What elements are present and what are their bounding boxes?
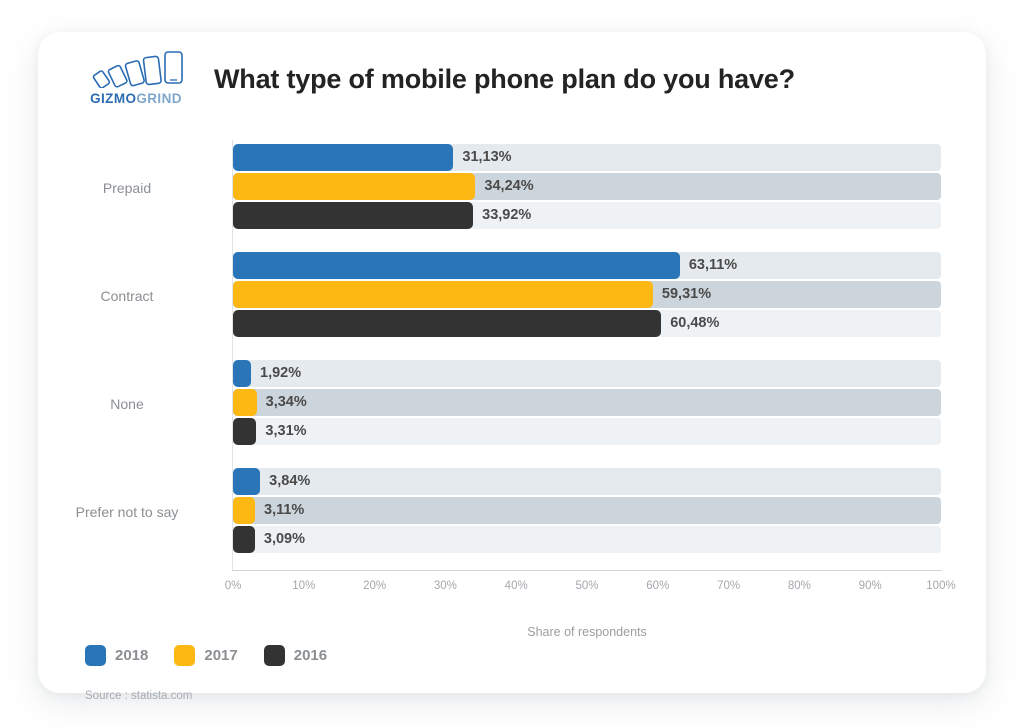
bar-2018[interactable] xyxy=(233,360,251,387)
bar-2016[interactable] xyxy=(233,310,661,337)
bar-track xyxy=(233,389,941,416)
source-note: Source : statista.com xyxy=(85,690,192,702)
bar-tracks: 63,11%59,31%60,48% xyxy=(233,252,941,340)
wordmark-primary: GIZMO xyxy=(90,91,136,106)
chart-plot-area: Prepaid31,13%34,24%33,92%Contract63,11%5… xyxy=(38,140,986,693)
bar-track xyxy=(233,526,941,553)
card-header: GIZMOGRIND What type of mobile phone pla… xyxy=(38,32,986,140)
bar-value-label: 60,48% xyxy=(670,310,719,337)
x-axis-ticks: 0%10%20%30%40%50%60%70%80%90%100% xyxy=(233,580,941,598)
bar-value-label: 3,34% xyxy=(266,389,307,416)
legend-label: 2017 xyxy=(204,647,237,664)
category-label: Prefer not to say xyxy=(38,504,216,520)
x-tick-label: 90% xyxy=(859,580,882,592)
x-tick-label: 70% xyxy=(717,580,740,592)
chart-legend: 201820172016 xyxy=(85,645,327,666)
bar-track xyxy=(233,418,941,445)
x-tick-label: 40% xyxy=(505,580,528,592)
bar-2018[interactable] xyxy=(233,144,453,171)
x-tick-label: 0% xyxy=(225,580,242,592)
x-tick-label: 20% xyxy=(363,580,386,592)
bar-group: Prefer not to say3,84%3,11%3,09% xyxy=(38,468,986,556)
x-tick-label: 30% xyxy=(434,580,457,592)
bar-2018[interactable] xyxy=(233,252,680,279)
bar-2018[interactable] xyxy=(233,468,260,495)
bar-track xyxy=(233,497,941,524)
legend-label: 2018 xyxy=(115,647,148,664)
legend-item-2018[interactable]: 2018 xyxy=(85,645,148,666)
bar-2017[interactable] xyxy=(233,173,475,200)
bar-value-label: 3,09% xyxy=(264,526,305,553)
bar-group: None1,92%3,34%3,31% xyxy=(38,360,986,448)
brand-logo: GIZMOGRIND xyxy=(76,50,196,106)
bar-value-label: 59,31% xyxy=(662,281,711,308)
bar-2017[interactable] xyxy=(233,389,257,416)
legend-item-2017[interactable]: 2017 xyxy=(174,645,237,666)
bar-group: Prepaid31,13%34,24%33,92% xyxy=(38,144,986,232)
x-tick-label: 10% xyxy=(292,580,315,592)
x-axis-title: Share of respondents xyxy=(233,625,941,639)
bar-2017[interactable] xyxy=(233,281,653,308)
gizmogrind-phones-logo xyxy=(87,50,185,88)
legend-swatch-icon xyxy=(85,645,106,666)
x-tick-label: 100% xyxy=(926,580,955,592)
bar-value-label: 31,13% xyxy=(462,144,511,171)
bar-value-label: 1,92% xyxy=(260,360,301,387)
bar-value-label: 34,24% xyxy=(484,173,533,200)
page-title: What type of mobile phone plan do you ha… xyxy=(214,64,795,95)
bar-2016[interactable] xyxy=(233,202,473,229)
bar-value-label: 3,11% xyxy=(264,497,304,524)
x-tick-label: 60% xyxy=(646,580,669,592)
chart-card: GIZMOGRIND What type of mobile phone pla… xyxy=(38,32,986,693)
bar-tracks: 1,92%3,34%3,31% xyxy=(233,360,941,448)
x-axis-line xyxy=(232,570,942,571)
bar-tracks: 3,84%3,11%3,09% xyxy=(233,468,941,556)
bar-value-label: 3,31% xyxy=(265,418,306,445)
category-label: Prepaid xyxy=(38,180,216,196)
bar-track xyxy=(233,468,941,495)
bar-value-label: 33,92% xyxy=(482,202,531,229)
bar-track xyxy=(233,360,941,387)
x-tick-label: 80% xyxy=(788,580,811,592)
bar-value-label: 3,84% xyxy=(269,468,310,495)
brand-wordmark: GIZMOGRIND xyxy=(76,91,196,106)
legend-swatch-icon xyxy=(174,645,195,666)
x-tick-label: 50% xyxy=(575,580,598,592)
bar-value-label: 63,11% xyxy=(689,252,737,279)
legend-label: 2016 xyxy=(294,647,327,664)
wordmark-secondary: GRIND xyxy=(136,91,182,106)
category-label: None xyxy=(38,396,216,412)
category-label: Contract xyxy=(38,288,216,304)
bar-group: Contract63,11%59,31%60,48% xyxy=(38,252,986,340)
legend-swatch-icon xyxy=(264,645,285,666)
bar-2016[interactable] xyxy=(233,526,255,553)
bar-tracks: 31,13%34,24%33,92% xyxy=(233,144,941,232)
bar-2016[interactable] xyxy=(233,418,256,445)
legend-item-2016[interactable]: 2016 xyxy=(264,645,327,666)
bar-2017[interactable] xyxy=(233,497,255,524)
